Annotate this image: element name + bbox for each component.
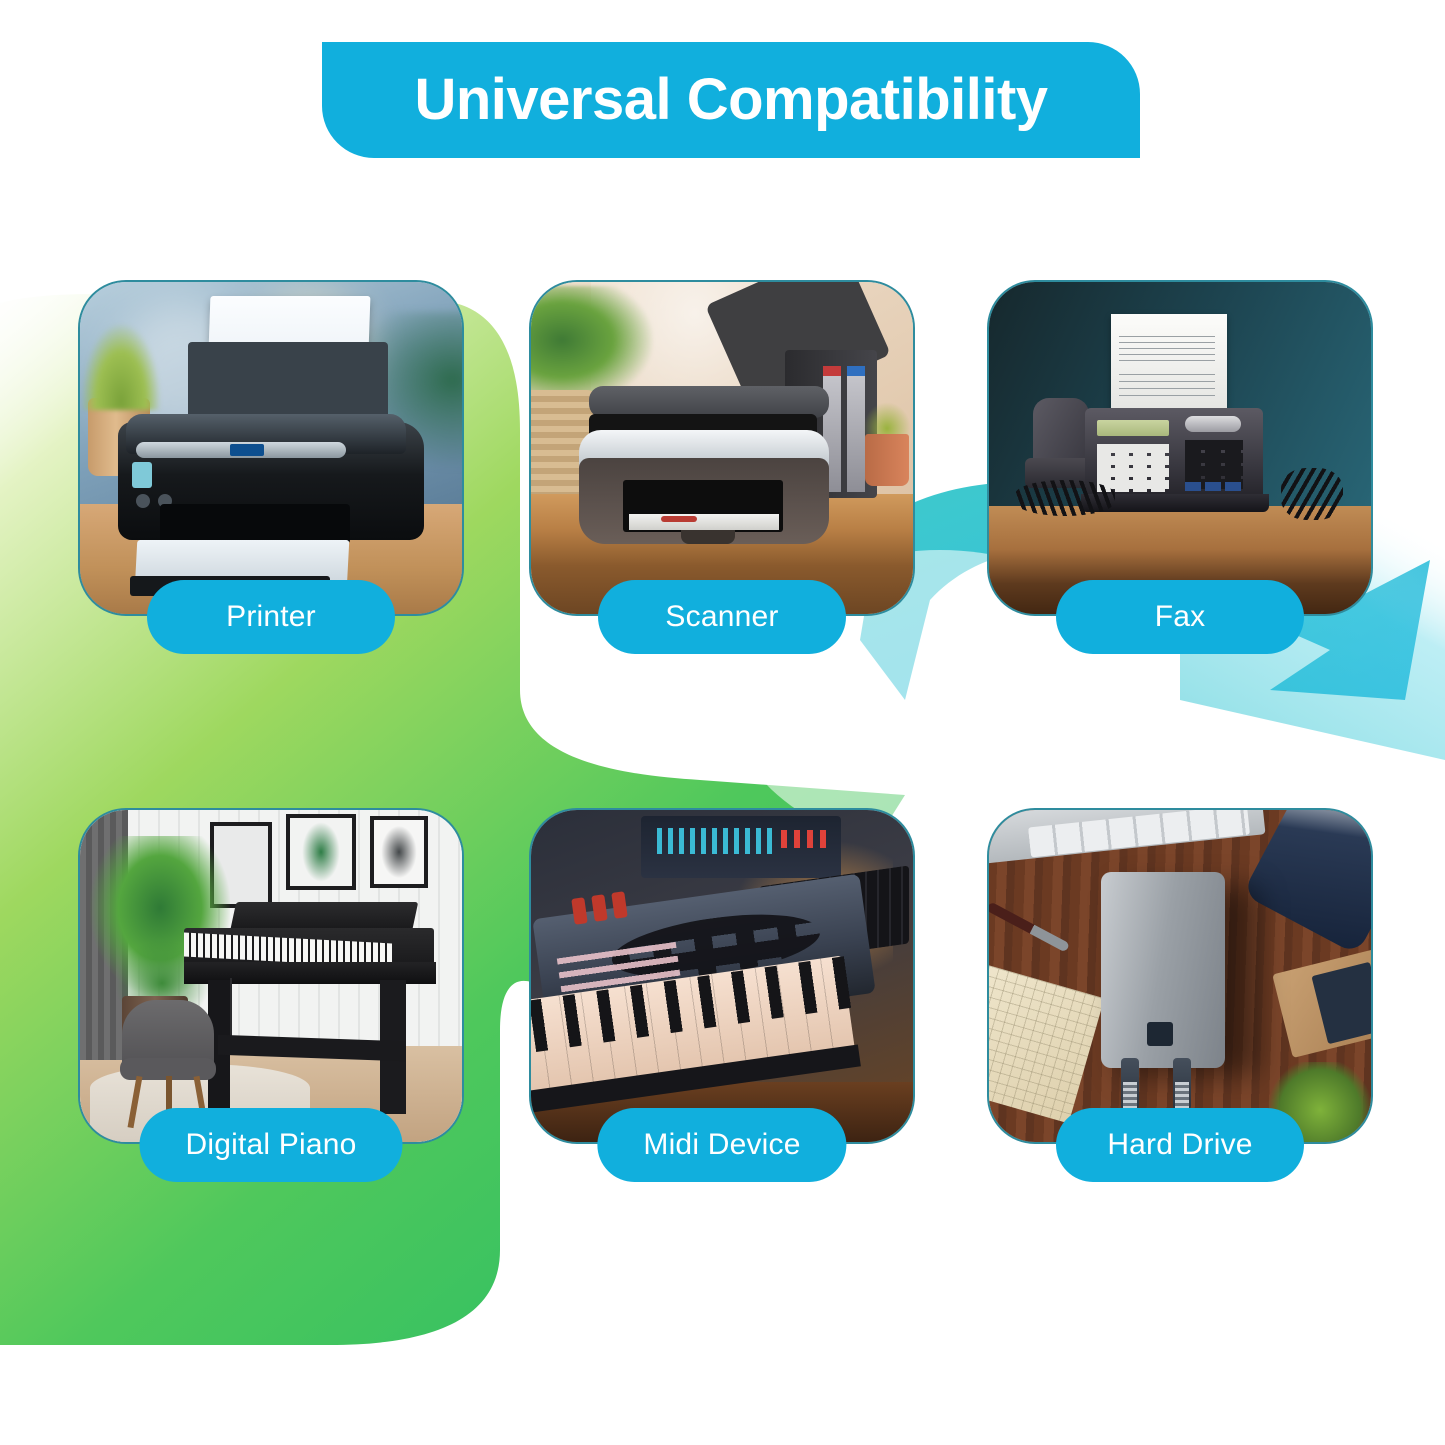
card-printer[interactable]: Printer [78,280,464,616]
card-midi-device-image [529,808,915,1144]
compatibility-card-grid: Printer Scanner [0,0,1445,1445]
card-midi-device-label: Midi Device [643,1128,800,1162]
card-midi-device[interactable]: Midi Device [529,808,915,1144]
card-digital-piano[interactable]: Digital Piano [78,808,464,1144]
page-title: Universal Compatibility [414,71,1047,129]
card-hard-drive-image [987,808,1373,1144]
card-hard-drive-label-pill[interactable]: Hard Drive [1056,1108,1304,1182]
card-scanner-label: Scanner [665,600,778,634]
card-digital-piano-label: Digital Piano [185,1128,356,1162]
card-midi-device-label-pill[interactable]: Midi Device [597,1108,846,1182]
card-scanner-label-pill[interactable]: Scanner [598,580,846,654]
page-header-banner: Universal Compatibility [322,42,1140,158]
card-scanner-image [529,280,915,616]
card-digital-piano-image [78,808,464,1144]
card-fax-image [987,280,1373,616]
card-printer-label-pill[interactable]: Printer [147,580,395,654]
card-scanner[interactable]: Scanner [529,280,915,616]
card-digital-piano-label-pill[interactable]: Digital Piano [139,1108,402,1182]
card-printer-label: Printer [226,600,316,634]
card-fax-label: Fax [1155,600,1206,634]
printer-illustration [80,282,462,614]
hard-drive-illustration [989,810,1371,1142]
card-hard-drive-label: Hard Drive [1107,1128,1252,1162]
fax-illustration [989,282,1371,614]
digital-piano-illustration [80,810,462,1142]
card-fax[interactable]: Fax [987,280,1373,616]
scanner-illustration [531,282,913,614]
card-printer-image [78,280,464,616]
card-hard-drive[interactable]: Hard Drive [987,808,1373,1144]
card-fax-label-pill[interactable]: Fax [1056,580,1304,654]
midi-device-illustration [531,810,913,1142]
